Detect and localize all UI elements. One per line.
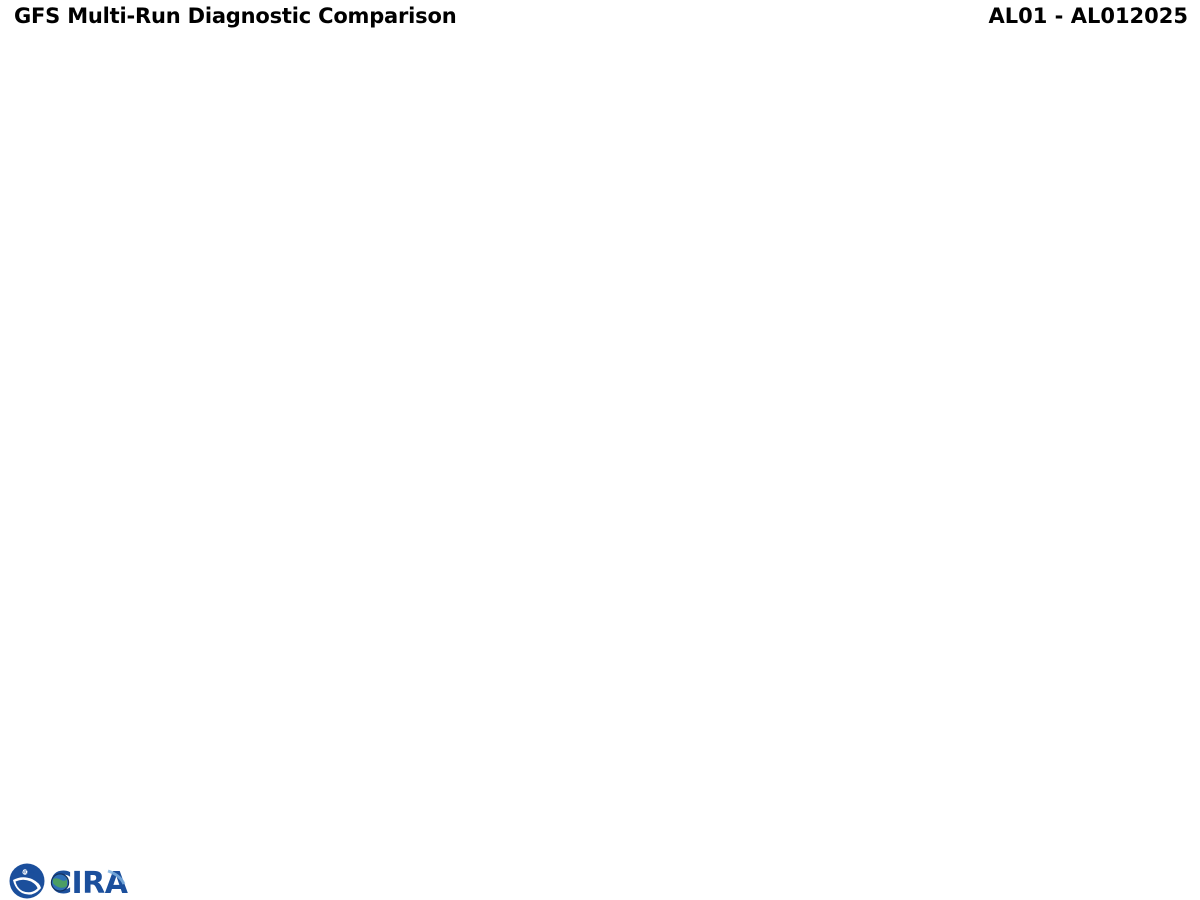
noaa-emblem: NOAA bbox=[10, 864, 45, 899]
cira-wordmark: CIRA bbox=[50, 866, 129, 900]
page-title: GFS Multi-Run Diagnostic Comparison bbox=[14, 4, 456, 28]
storm-id-label: AL01 - AL012025 bbox=[989, 4, 1189, 28]
svg-text:NOAA: NOAA bbox=[22, 870, 34, 875]
